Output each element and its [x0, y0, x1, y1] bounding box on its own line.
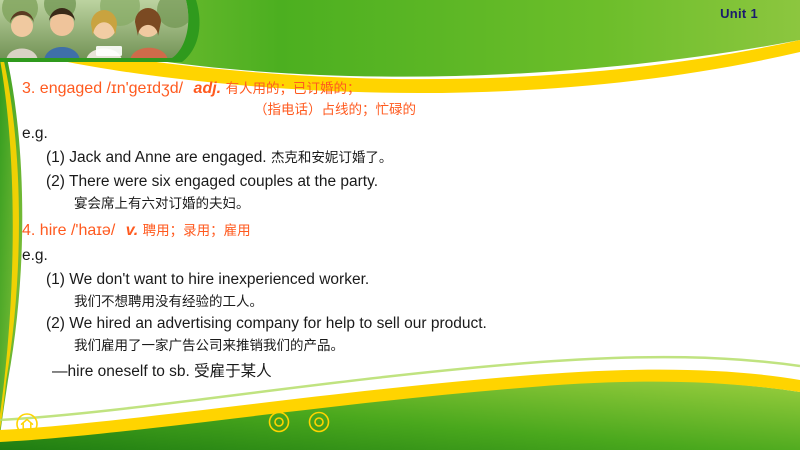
entry-4-example-2-cn: 我们雇用了一家广告公司来推销我们的产品。 [74, 337, 782, 355]
entry-3-example-2-marker: (2) [46, 173, 65, 190]
entry-3-example-1-cn: 杰克和安妮订婚了。 [271, 150, 393, 165]
entry-3-number: 3. [22, 80, 35, 97]
entry-3-example-2-cn: 宴会席上有六对订婚的夫妇。 [74, 195, 782, 213]
entry-4-example-1-marker: (1) [46, 271, 65, 288]
entry-3-definition-cn: 有人用的；已订婚的； [226, 81, 361, 96]
entry-4-word: hire [40, 222, 67, 239]
entry-4-example-1-cn: 我们不想聘用没有经验的工人。 [74, 293, 782, 311]
entry-4-definition-cn: 聘用；录用；雇用 [143, 223, 251, 238]
entry-4-example-2: (2) We hired an advertising company for … [46, 314, 782, 335]
bottom-nav-icons [268, 411, 338, 438]
entry-4-headword: 4. hire /'haɪə/ v. 聘用；录用；雇用 [22, 220, 782, 242]
circle-nav-icon-1 [270, 413, 289, 432]
entry-4-example-1-en: We don't want to hire inexperienced work… [69, 271, 369, 288]
entry-3-example-2-en: There were six engaged couples at the pa… [69, 173, 378, 190]
entry-4-example-2-en: We hired an advertising company for help… [69, 315, 487, 332]
entry-4-eg-label: e.g. [22, 246, 782, 267]
entry-3-example-1-marker: (1) [46, 149, 65, 166]
entry-3-word: engaged [40, 80, 102, 97]
header-photo [0, 0, 190, 62]
slide-content: 3. engaged /ɪn'geɪdʒd/ adj. 有人用的；已订婚的； （… [22, 78, 782, 383]
entry-3-headword: 3. engaged /ɪn'geɪdʒd/ adj. 有人用的；已订婚的； [22, 78, 782, 100]
entry-3-example-1: (1) Jack and Anne are engaged. 杰克和安妮订婚了。 [46, 148, 782, 169]
entry-4-pos: v. [120, 222, 138, 239]
entry-4-example-1: (1) We don't want to hire inexperienced … [46, 270, 782, 291]
entry-4: 4. hire /'haɪə/ v. 聘用；录用；雇用 e.g. (1) We … [22, 220, 782, 383]
entry-3: 3. engaged /ɪn'geɪdʒd/ adj. 有人用的；已订婚的； （… [22, 78, 782, 213]
entry-3-eg-label: e.g. [22, 124, 782, 145]
entry-3-example-2: (2) There were six engaged couples at th… [46, 172, 782, 193]
entry-3-pos: adj. [188, 80, 222, 97]
slide: Unit 1 3. engaged /ɪn'geɪdʒd/ adj. 有人用的；… [0, 0, 800, 450]
circle-nav-icon-2 [310, 413, 329, 432]
entry-3-example-1-en: Jack and Anne are engaged. [69, 149, 266, 166]
entry-3-definition-cn2: （指电话）占线的；忙碌的 [254, 101, 782, 119]
entry-4-example-2-marker: (2) [46, 315, 65, 332]
home-icon[interactable] [16, 413, 38, 440]
page-title: Unit 1 [720, 6, 758, 21]
entry-4-number: 4. [22, 222, 35, 239]
entry-3-phonetic: /ɪn'geɪdʒd/ [107, 80, 184, 97]
entry-4-note: —hire oneself to sb. 受雇于某人 [52, 362, 782, 383]
entry-4-phonetic: /'haɪə/ [71, 222, 115, 239]
